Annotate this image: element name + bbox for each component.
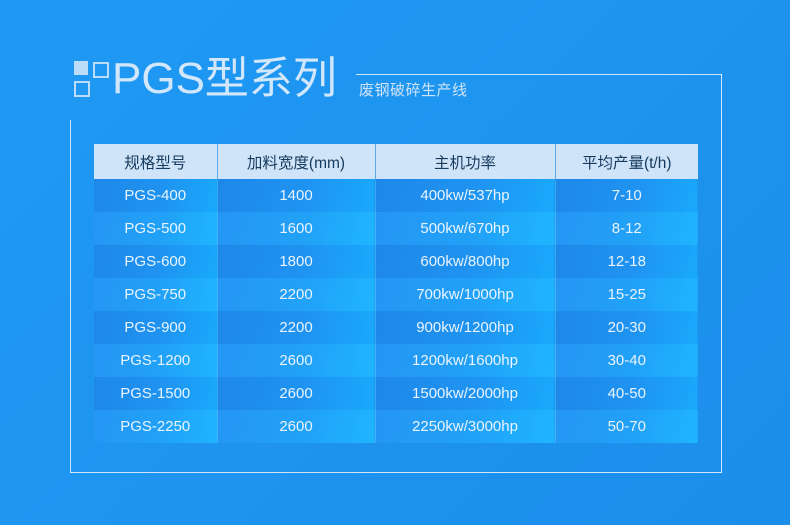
column-header-model: 规格型号 (94, 144, 217, 179)
table-row: PGS-500 1600 500kw/670hp 8-12 (94, 212, 698, 245)
cell-main-power: 600kw/800hp (375, 245, 555, 278)
cell-feed-width: 2600 (217, 344, 375, 377)
cell-model: PGS-2250 (94, 410, 217, 443)
cell-model: PGS-1500 (94, 377, 217, 410)
cell-main-power: 400kw/537hp (375, 179, 555, 212)
frame-line-left (70, 120, 71, 473)
cell-feed-width: 1800 (217, 245, 375, 278)
square-outline-bottom-left-icon (74, 81, 90, 97)
cell-feed-width: 2600 (217, 377, 375, 410)
table-row: PGS-1200 2600 1200kw/1600hp 30-40 (94, 344, 698, 377)
table-row: PGS-1500 2600 1500kw/2000hp 40-50 (94, 377, 698, 410)
cell-model: PGS-400 (94, 179, 217, 212)
cell-feed-width: 1400 (217, 179, 375, 212)
cell-model: PGS-900 (94, 311, 217, 344)
column-header-main-power: 主机功率 (375, 144, 555, 179)
cell-model: PGS-600 (94, 245, 217, 278)
cell-feed-width: 2600 (217, 410, 375, 443)
frame-line-top (356, 74, 722, 75)
three-squares-decor-icon (74, 61, 114, 99)
table-row: PGS-750 2200 700kw/1000hp 15-25 (94, 278, 698, 311)
cell-avg-output: 12-18 (555, 245, 698, 278)
frame-line-right (721, 74, 722, 473)
cell-avg-output: 30-40 (555, 344, 698, 377)
cell-avg-output: 7-10 (555, 179, 698, 212)
column-header-feed-width: 加料宽度(mm) (217, 144, 375, 179)
square-outline-top-right-icon (93, 62, 109, 78)
table-row: PGS-900 2200 900kw/1200hp 20-30 (94, 311, 698, 344)
table-body: PGS-400 1400 400kw/537hp 7-10 PGS-500 16… (94, 179, 698, 443)
table-row: PGS-400 1400 400kw/537hp 7-10 (94, 179, 698, 212)
page-title: PGS型系列 (112, 52, 337, 106)
specification-table: 规格型号 加料宽度(mm) 主机功率 平均产量(t/h) PGS-400 140… (94, 144, 698, 443)
cell-avg-output: 20-30 (555, 311, 698, 344)
cell-main-power: 700kw/1000hp (375, 278, 555, 311)
cell-main-power: 900kw/1200hp (375, 311, 555, 344)
cell-model: PGS-500 (94, 212, 217, 245)
cell-main-power: 1500kw/2000hp (375, 377, 555, 410)
cell-avg-output: 50-70 (555, 410, 698, 443)
square-filled-icon (74, 61, 88, 75)
cell-feed-width: 1600 (217, 212, 375, 245)
table-row: PGS-600 1800 600kw/800hp 12-18 (94, 245, 698, 278)
cell-main-power: 1200kw/1600hp (375, 344, 555, 377)
table-header: 规格型号 加料宽度(mm) 主机功率 平均产量(t/h) (94, 144, 698, 179)
cell-avg-output: 8-12 (555, 212, 698, 245)
cell-model: PGS-1200 (94, 344, 217, 377)
frame-line-bottom (70, 472, 722, 473)
cell-avg-output: 40-50 (555, 377, 698, 410)
page-subtitle: 废钢破碎生产线 (359, 80, 468, 102)
cell-feed-width: 2200 (217, 278, 375, 311)
table-header-row: 规格型号 加料宽度(mm) 主机功率 平均产量(t/h) (94, 144, 698, 179)
column-header-avg-output: 平均产量(t/h) (555, 144, 698, 179)
cell-model: PGS-750 (94, 278, 217, 311)
cell-main-power: 500kw/670hp (375, 212, 555, 245)
table-row: PGS-2250 2600 2250kw/3000hp 50-70 (94, 410, 698, 443)
cell-main-power: 2250kw/3000hp (375, 410, 555, 443)
cell-avg-output: 15-25 (555, 278, 698, 311)
cell-feed-width: 2200 (217, 311, 375, 344)
product-spec-banner: PGS型系列 废钢破碎生产线 规格型号 加料宽度(mm) 主机功率 平均产量(t… (0, 0, 790, 525)
